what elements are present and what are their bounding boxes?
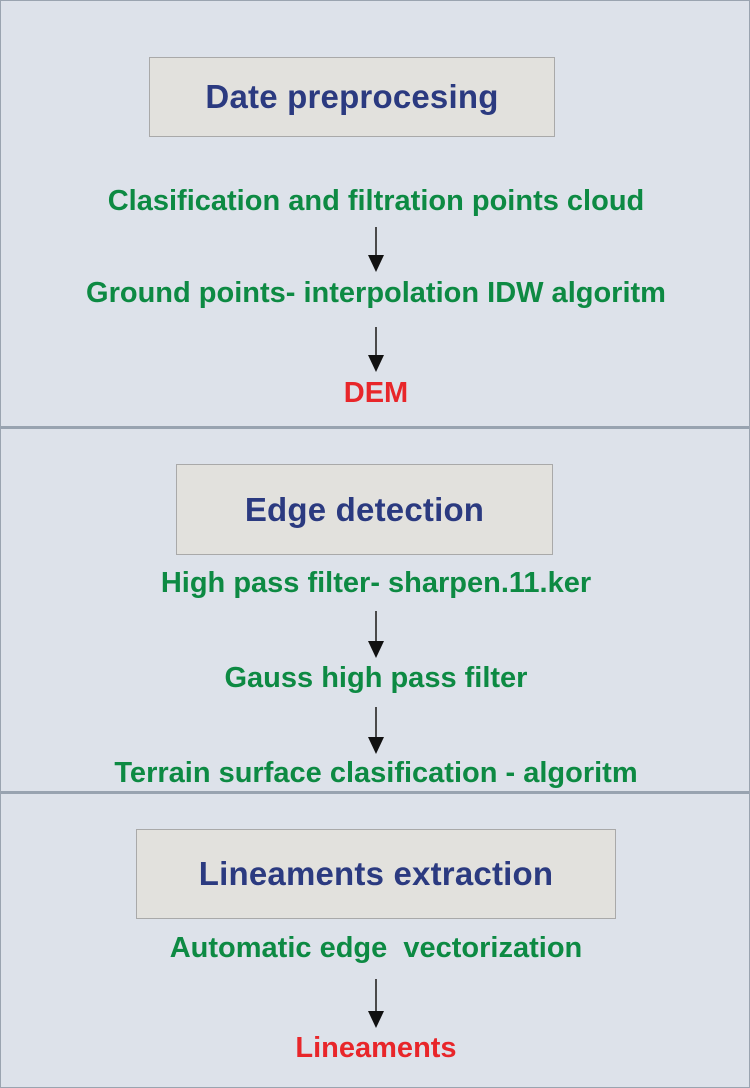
stage-date-preprocesing: Date preprocesing Clasification and filt… [1, 1, 750, 426]
stage-title-edge-detection: Edge detection [245, 491, 484, 529]
stage-lineaments-extraction: Lineaments extraction Automatic edge vec… [1, 791, 750, 1088]
stage-edge-detection: Edge detection High pass filter- sharpen… [1, 426, 750, 791]
step-automatic-edge-vectorization: Automatic edge vectorization [1, 934, 750, 963]
stage-title-box-date-preprocesing: Date preprocesing [149, 57, 555, 137]
result-dem: DEM [1, 379, 750, 408]
step-gauss-high-pass-filter: Gauss high pass filter [1, 664, 750, 693]
stage-title-box-edge-detection: Edge detection [176, 464, 553, 555]
arrow-down-icon [362, 227, 390, 273]
step-clasification-and-filtration-points-cloud: Clasification and filtration points clou… [1, 187, 750, 216]
step-high-pass-filter-sharpen: High pass filter- sharpen.11.ker [1, 569, 750, 598]
arrow-down-icon [362, 979, 390, 1029]
arrow-down-icon [362, 611, 390, 659]
arrow-down-icon [362, 707, 390, 755]
result-lineaments: Lineaments [1, 1034, 750, 1063]
stage-title-lineaments-extraction: Lineaments extraction [199, 855, 553, 893]
stage-title-date-preprocesing: Date preprocesing [205, 78, 498, 116]
workflow-diagram: Date preprocesing Clasification and filt… [0, 0, 750, 1088]
step-ground-points-interpolation-idw-algoritm: Ground points- interpolation IDW algorit… [1, 279, 750, 308]
stage-title-box-lineaments-extraction: Lineaments extraction [136, 829, 616, 919]
step-terrain-surface-clasification-algoritm: Terrain surface clasification - algoritm [1, 759, 750, 788]
arrow-down-icon [362, 327, 390, 373]
